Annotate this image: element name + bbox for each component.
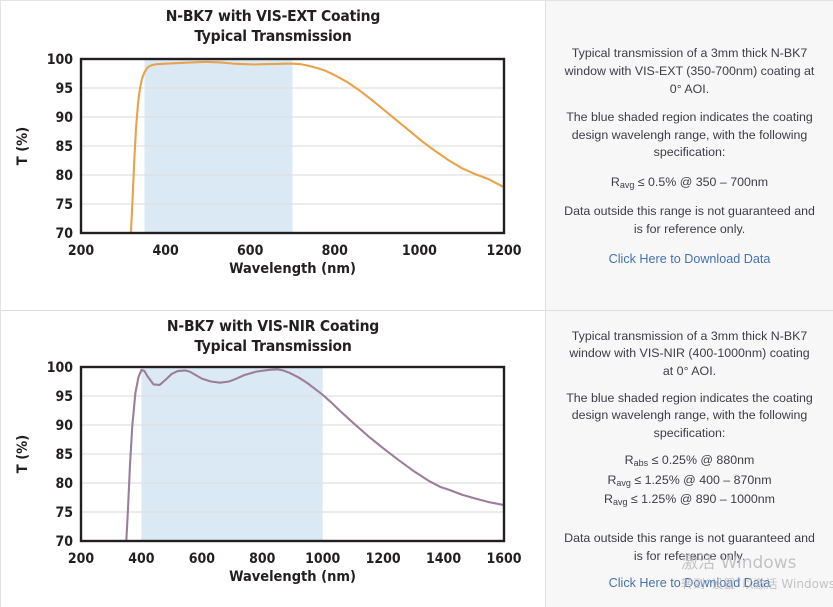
- specification-line: Ravg ≤ 0.5% @ 350 – 700nm: [611, 173, 768, 193]
- svg-text:70: 70: [55, 226, 73, 242]
- svg-text:1600: 1600: [486, 551, 521, 567]
- svg-text:80: 80: [55, 168, 73, 184]
- section-vis-ext: N-BK7 with VIS-EXT Coating Typical Trans…: [1, 1, 833, 311]
- description-paragraph-2: The blue shaded region indicates the coa…: [564, 390, 815, 443]
- chart-title-line2: Typical Transmission: [1, 27, 545, 47]
- specification-line: Rabs ≤ 0.25% @ 880nm: [604, 451, 775, 471]
- chart-title-line1: N-BK7 with VIS-NIR Coating: [167, 317, 379, 335]
- chart-cell-vis-nir: N-BK7 with VIS-NIR Coating Typical Trans…: [1, 311, 546, 607]
- specification-list: Rabs ≤ 0.25% @ 880nmRavg ≤ 1.25% @ 400 –…: [604, 451, 775, 510]
- download-data-link[interactable]: Click Here to Download Data: [609, 252, 771, 266]
- section-vis-nir: N-BK7 with VIS-NIR Coating Typical Trans…: [1, 311, 833, 607]
- chart-title-line2: Typical Transmission: [1, 337, 545, 357]
- svg-text:600: 600: [189, 551, 216, 567]
- transmission-plot-vis-ext: 70758085909510020040060080010001200Wavel…: [1, 47, 546, 297]
- svg-text:100: 100: [47, 52, 74, 68]
- chart-title-vis-nir: N-BK7 with VIS-NIR Coating Typical Trans…: [1, 311, 545, 357]
- svg-text:70: 70: [55, 534, 73, 550]
- specification-line: Ravg ≤ 1.25% @ 890 – 1000nm: [604, 490, 775, 510]
- description-paragraph-3: Data outside this range is not guarantee…: [564, 203, 815, 238]
- chart-cell-vis-ext: N-BK7 with VIS-EXT Coating Typical Trans…: [1, 1, 546, 310]
- svg-text:800: 800: [249, 551, 276, 567]
- plot-wrap-vis-ext: 70758085909510020040060080010001200Wavel…: [1, 47, 545, 297]
- specification-list: Ravg ≤ 0.5% @ 350 – 700nm: [611, 173, 768, 193]
- chart-title-line1: N-BK7 with VIS-EXT Coating: [166, 7, 380, 25]
- svg-text:95: 95: [55, 389, 73, 405]
- svg-text:T (%): T (%): [15, 126, 31, 164]
- svg-text:1200: 1200: [366, 551, 401, 567]
- svg-text:85: 85: [55, 447, 73, 463]
- svg-text:80: 80: [55, 476, 73, 492]
- description-paragraph-1: Typical transmission of a 3mm thick N-BK…: [564, 45, 815, 98]
- svg-text:100: 100: [47, 360, 74, 376]
- svg-text:75: 75: [55, 505, 73, 521]
- svg-text:400: 400: [128, 551, 155, 567]
- svg-text:90: 90: [55, 110, 73, 126]
- svg-text:1200: 1200: [486, 243, 521, 259]
- chart-title-vis-ext: N-BK7 with VIS-EXT Coating Typical Trans…: [1, 1, 545, 47]
- svg-text:75: 75: [55, 197, 73, 213]
- svg-text:90: 90: [55, 418, 73, 434]
- svg-text:85: 85: [55, 139, 73, 155]
- svg-text:Wavelength (nm): Wavelength (nm): [229, 261, 356, 277]
- description-panel-vis-ext: Typical transmission of a 3mm thick N-BK…: [546, 1, 833, 310]
- description-paragraph-2: The blue shaded region indicates the coa…: [564, 109, 815, 162]
- svg-text:Wavelength (nm): Wavelength (nm): [229, 569, 356, 585]
- svg-text:600: 600: [237, 243, 264, 259]
- svg-text:200: 200: [68, 551, 95, 567]
- transmission-curves-page: N-BK7 with VIS-EXT Coating Typical Trans…: [0, 0, 833, 607]
- svg-text:T (%): T (%): [15, 434, 31, 472]
- svg-text:200: 200: [68, 243, 95, 259]
- description-paragraph-1: Typical transmission of a 3mm thick N-BK…: [564, 328, 815, 381]
- transmission-plot-vis-nir: 7075808590951002004006008001000120014001…: [1, 357, 546, 605]
- svg-text:800: 800: [322, 243, 349, 259]
- svg-text:1400: 1400: [426, 551, 461, 567]
- svg-text:95: 95: [55, 81, 73, 97]
- svg-text:400: 400: [152, 243, 179, 259]
- description-paragraph-3: Data outside this range is not guarantee…: [564, 530, 815, 565]
- svg-text:1000: 1000: [305, 551, 340, 567]
- plot-wrap-vis-nir: 7075808590951002004006008001000120014001…: [1, 357, 545, 605]
- specification-line: Ravg ≤ 1.25% @ 400 – 870nm: [604, 471, 775, 491]
- download-data-link[interactable]: Click Here to Download Data: [609, 576, 771, 590]
- svg-text:1000: 1000: [402, 243, 437, 259]
- description-panel-vis-nir: Typical transmission of a 3mm thick N-BK…: [546, 311, 833, 607]
